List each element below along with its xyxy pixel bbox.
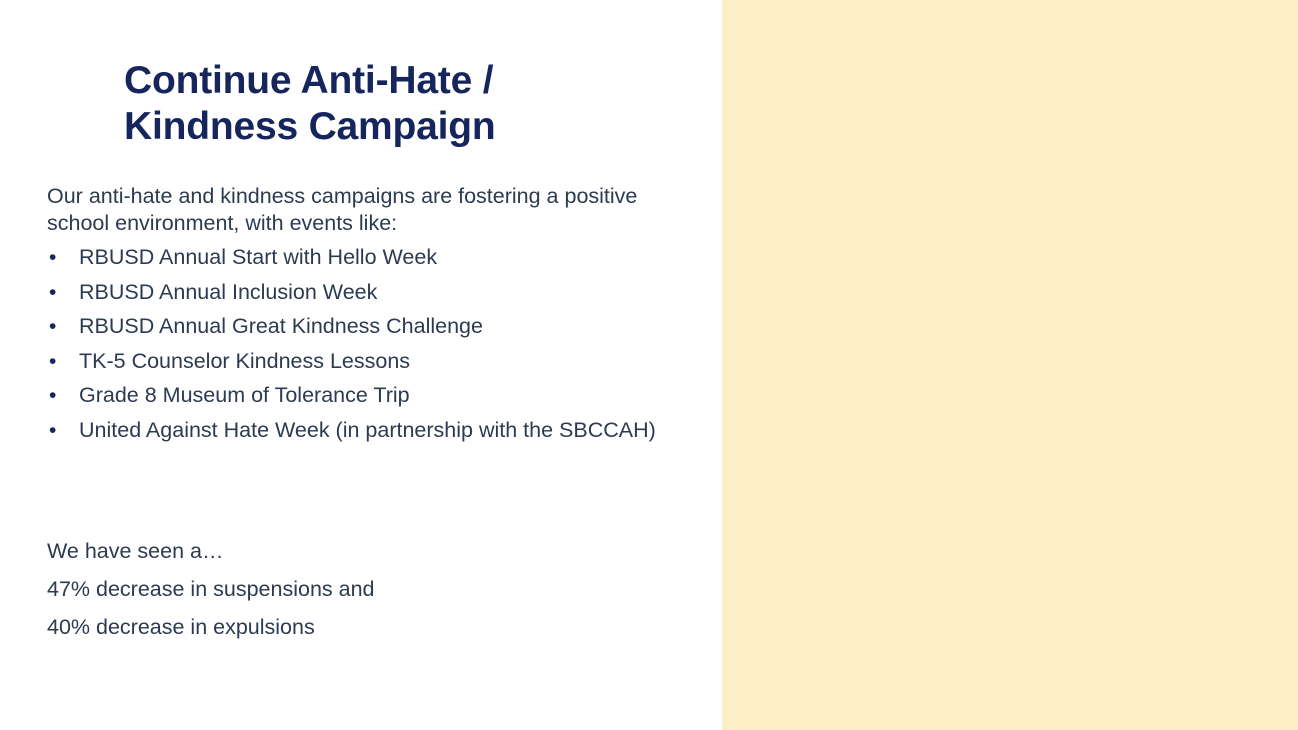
bullet-dot-icon: • — [49, 279, 56, 306]
page-title: Continue Anti-Hate / Kindness Campaign — [124, 58, 684, 150]
content-column: Continue Anti-Hate / Kindness Campaign O… — [0, 0, 722, 730]
bullet-dot-icon: • — [49, 348, 56, 375]
slide: ★ MADISON ELEMENTARY 2200 — [0, 0, 1298, 730]
photo-panel: ★ MADISON ELEMENTARY 2200 — [722, 0, 1298, 730]
list-item: •RBUSD Annual Great Kindness Challenge — [47, 313, 699, 340]
list-item-label: Grade 8 Museum of Tolerance Trip — [79, 383, 410, 407]
bullet-dot-icon: • — [49, 313, 56, 340]
stat-suspensions: 47% decrease in suspensions and — [47, 576, 647, 602]
events-bullet-list: •RBUSD Annual Start with Hello Week•RBUS… — [47, 244, 697, 444]
bullet-dot-icon: • — [49, 382, 56, 409]
list-item: •Grade 8 Museum of Tolerance Trip — [47, 382, 699, 409]
body-content: Our anti-hate and kindness campaigns are… — [47, 183, 697, 451]
intro-paragraph: Our anti-hate and kindness campaigns are… — [47, 183, 692, 236]
list-item: •United Against Hate Week (in partnershi… — [47, 417, 699, 444]
list-item: •TK-5 Counselor Kindness Lessons — [47, 348, 699, 375]
bullet-dot-icon: • — [49, 244, 56, 271]
stat-expulsions: 40% decrease in expulsions — [47, 614, 647, 640]
list-item-label: RBUSD Annual Inclusion Week — [79, 280, 377, 304]
stats-lead: We have seen a… — [47, 538, 647, 564]
list-item-label: United Against Hate Week (in partnership… — [79, 418, 656, 442]
statistics-block: We have seen a… 47% decrease in suspensi… — [47, 538, 647, 652]
list-item-label: TK-5 Counselor Kindness Lessons — [79, 349, 410, 373]
list-item-label: RBUSD Annual Great Kindness Challenge — [79, 314, 483, 338]
bullet-dot-icon: • — [49, 417, 56, 444]
list-item: •RBUSD Annual Start with Hello Week — [47, 244, 699, 271]
list-item: •RBUSD Annual Inclusion Week — [47, 279, 699, 306]
list-item-label: RBUSD Annual Start with Hello Week — [79, 245, 437, 269]
